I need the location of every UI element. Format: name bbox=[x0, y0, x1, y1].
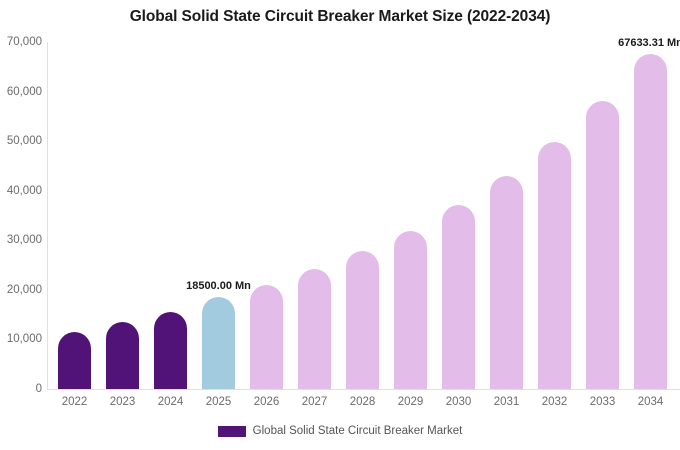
bar-chart: Global Solid State Circuit Breaker Marke… bbox=[0, 0, 680, 450]
x-axis-tick-label: 2023 bbox=[99, 396, 147, 408]
x-axis-line bbox=[47, 389, 680, 390]
bar-2026[interactable] bbox=[250, 285, 283, 389]
x-axis-tick-label: 2032 bbox=[531, 396, 579, 408]
y-axis-tick-label: 30,000 bbox=[0, 234, 42, 246]
bar-2032[interactable] bbox=[538, 142, 571, 389]
legend-label[interactable]: Global Solid State Circuit Breaker Marke… bbox=[253, 425, 463, 437]
y-axis-tick-label: 70,000 bbox=[0, 36, 42, 48]
legend-color-swatch[interactable] bbox=[218, 426, 246, 437]
bar-2029[interactable] bbox=[394, 231, 427, 389]
x-axis-tick-label: 2024 bbox=[147, 396, 195, 408]
y-axis-tick-label: 10,000 bbox=[0, 333, 42, 345]
bar-2023[interactable] bbox=[106, 322, 139, 389]
y-axis-tick-label: 50,000 bbox=[0, 135, 42, 147]
bar-2025[interactable] bbox=[202, 297, 235, 389]
x-axis-tick-label: 2025 bbox=[195, 396, 243, 408]
x-axis-tick-label: 2031 bbox=[483, 396, 531, 408]
x-axis-tick-label: 2026 bbox=[243, 396, 291, 408]
x-axis-tick-label: 2029 bbox=[387, 396, 435, 408]
bar-2033[interactable] bbox=[586, 101, 619, 390]
y-axis-tick-label: 20,000 bbox=[0, 284, 42, 296]
bar-2027[interactable] bbox=[298, 269, 331, 389]
bar-2034[interactable] bbox=[634, 54, 667, 389]
x-axis-tick-label: 2030 bbox=[435, 396, 483, 408]
x-axis-tick-label: 2027 bbox=[291, 396, 339, 408]
value-label-2034: 67633.31 Mn bbox=[618, 37, 680, 49]
y-axis-tick-label: 60,000 bbox=[0, 86, 42, 98]
bar-2030[interactable] bbox=[442, 205, 475, 389]
y-axis-tick-label: 0 bbox=[0, 383, 42, 395]
chart-legend: Global Solid State Circuit Breaker Marke… bbox=[0, 425, 680, 437]
plot-area bbox=[47, 42, 680, 390]
value-label-2025: 18500.00 Mn bbox=[186, 280, 251, 292]
x-axis-tick-label: 2034 bbox=[627, 396, 675, 408]
bar-2024[interactable] bbox=[154, 312, 187, 389]
x-axis-tick-label: 2022 bbox=[51, 396, 99, 408]
y-axis-tick-label: 40,000 bbox=[0, 185, 42, 197]
bar-2022[interactable] bbox=[58, 332, 91, 389]
x-axis-tick-label: 2033 bbox=[579, 396, 627, 408]
chart-title: Global Solid State Circuit Breaker Marke… bbox=[0, 8, 680, 26]
y-axis-line bbox=[47, 42, 48, 390]
bar-2031[interactable] bbox=[490, 176, 523, 389]
bar-2028[interactable] bbox=[346, 251, 379, 389]
x-axis-tick-label: 2028 bbox=[339, 396, 387, 408]
